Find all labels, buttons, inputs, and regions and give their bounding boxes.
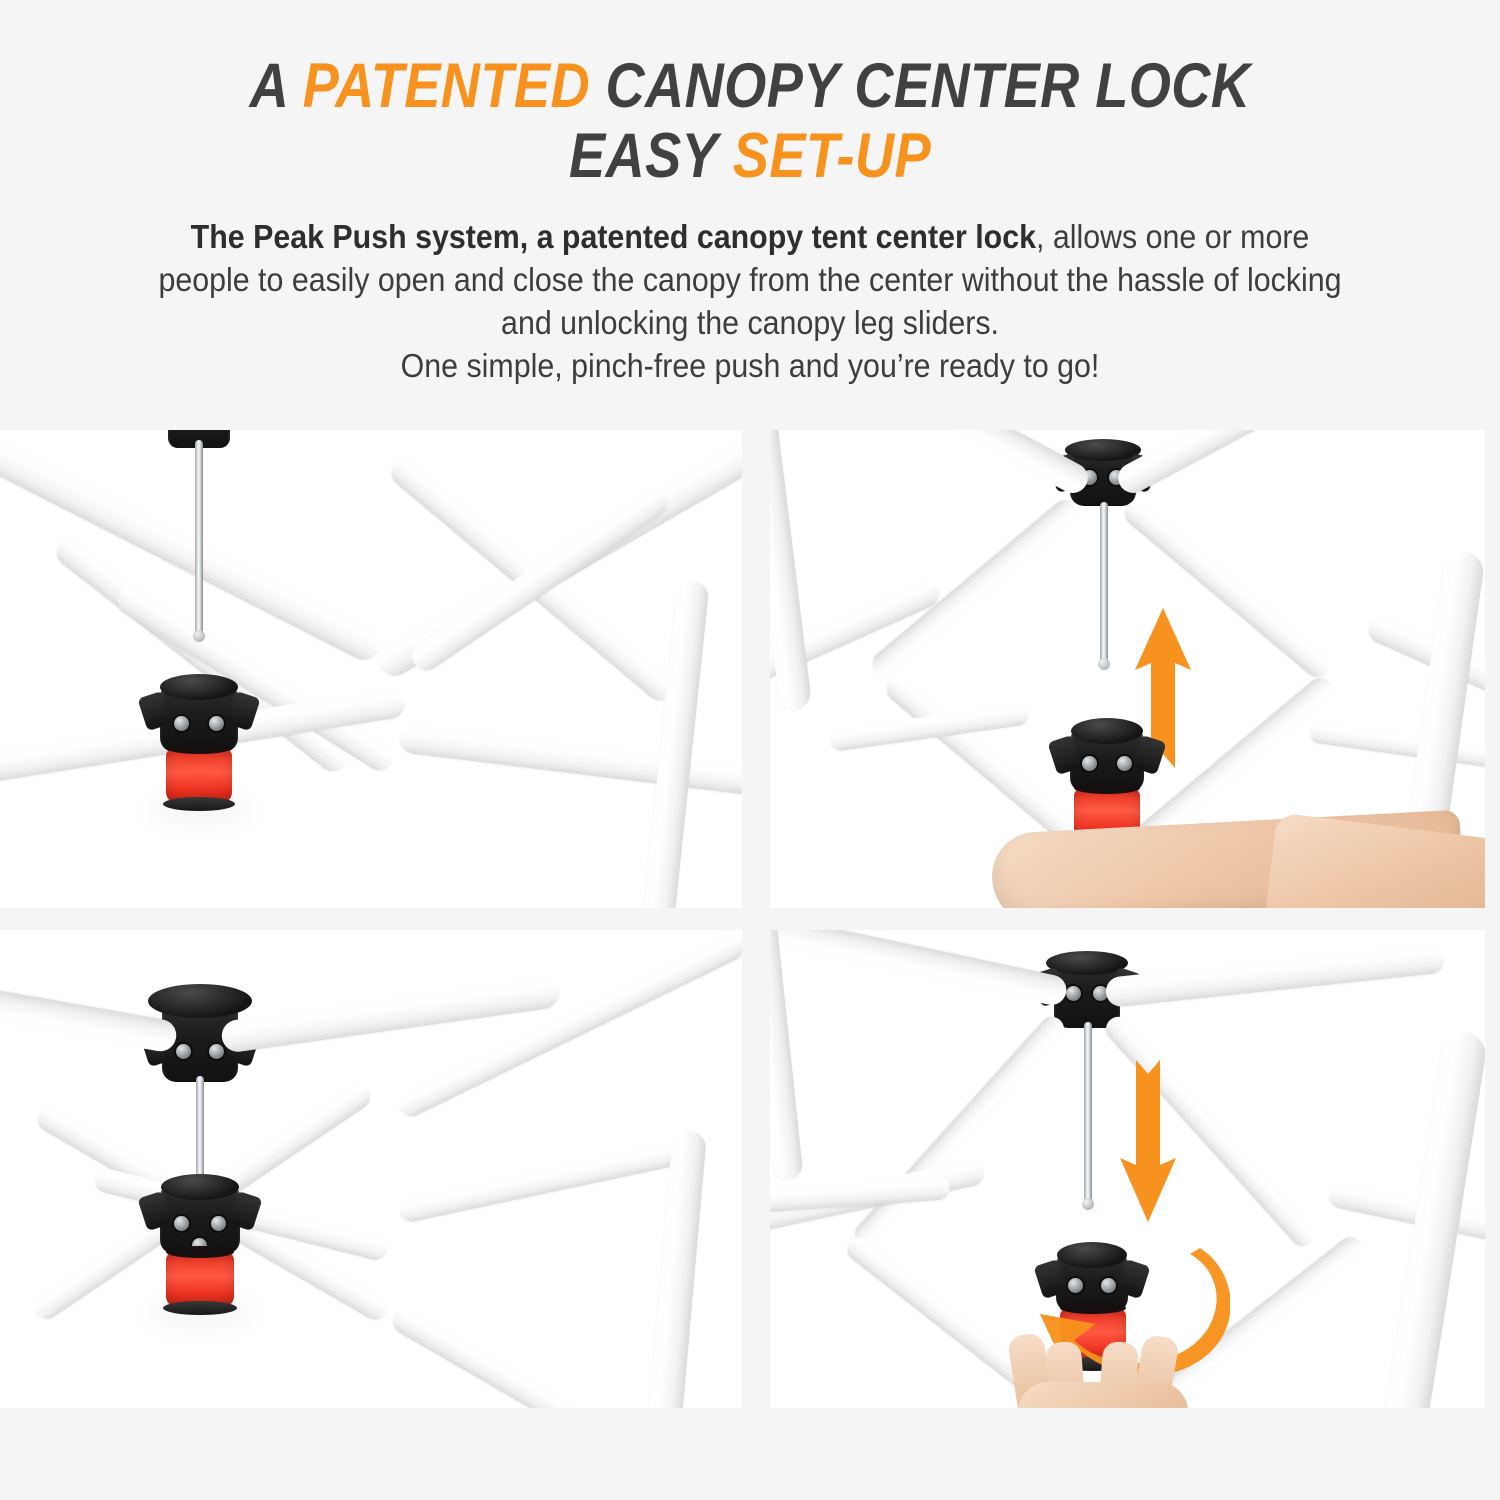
hub-ear-left	[137, 691, 172, 731]
title-word-patented: PATENTED	[303, 51, 590, 121]
description-line-2: One simple, pinch-free push and you’re r…	[401, 347, 1100, 384]
infographic-page: A PATENTED CANOPY CENTER LOCK EASY SET-U…	[0, 0, 1500, 1500]
panel-push-up-to-open-canopy	[770, 430, 1485, 908]
frame-rafter-upper-right	[1113, 430, 1418, 498]
frame-tube-leg-left	[770, 430, 812, 711]
hub-top-crown	[160, 674, 238, 700]
photo-grid	[0, 430, 1500, 1410]
hub-ear-left	[1047, 735, 1082, 775]
panel-canopy-fully-locked-center-hub	[0, 930, 742, 1408]
peak-bolt-left	[1066, 986, 1081, 1001]
title-line1-rest: CANOPY CENTER LOCK	[590, 51, 1250, 121]
description-paragraph: The Peak Push system, a patented canopy …	[143, 216, 1357, 388]
peak-cap-disc	[1065, 439, 1141, 461]
hub-bolt-left	[1082, 756, 1097, 771]
center-push-rod	[1084, 1022, 1092, 1204]
hub-bolt-right	[209, 716, 224, 731]
canopy-frame-illustration	[770, 430, 1485, 908]
hub-top-crown	[161, 1174, 239, 1200]
hub-bolt-left	[174, 1216, 189, 1231]
hub-ear-right	[1131, 735, 1166, 775]
frame-rafter-upper-left	[788, 430, 1093, 498]
frame-scissor-left-upper	[850, 1012, 1069, 1251]
title-word-setup: SET-UP	[733, 121, 931, 191]
center-push-rod	[1100, 502, 1108, 664]
page-title: A PATENTED CANOPY CENTER LOCK	[105, 52, 1395, 120]
peak-cap-disc	[148, 984, 252, 1018]
red-slider-drum	[166, 748, 232, 804]
canopy-frame-illustration	[770, 930, 1485, 1408]
hub-top-crown	[1071, 718, 1143, 744]
header: A PATENTED CANOPY CENTER LOCK EASY SET-U…	[0, 0, 1500, 388]
title-word-easy: EASY	[569, 121, 733, 191]
hub-bolt-left	[174, 716, 189, 731]
title-word-a: A	[250, 51, 303, 121]
hub-bolt-right	[1117, 756, 1132, 771]
canopy-frame-illustration	[0, 430, 742, 908]
center-push-rod	[195, 440, 203, 636]
panel-twist-and-pull-down-to-close-canopy	[770, 930, 1485, 1408]
red-slider-drum	[166, 1252, 234, 1308]
frame-rafter-upper-left	[770, 930, 1069, 1008]
panel-closed-canopy-center-lock-closeup	[0, 430, 742, 908]
peak-bolt-left	[176, 1044, 191, 1059]
center-lock-hub	[160, 1186, 240, 1254]
page-subtitle-title: EASY SET-UP	[105, 122, 1395, 190]
slider-drop-shadow	[150, 802, 250, 818]
frame-tube-leg-left	[770, 930, 804, 1181]
hand-palm-lower	[1018, 1382, 1188, 1408]
frame-rafter-upper-right	[1104, 943, 1445, 1008]
frame-tube-leg-right	[642, 579, 709, 908]
frame-rafter-upper-left	[0, 974, 179, 1054]
slider-drop-shadow	[150, 1306, 254, 1322]
frame-tube-leg-right	[647, 1129, 707, 1408]
canopy-frame-illustration	[0, 930, 742, 1408]
frame-scissor-x-right-down	[394, 931, 742, 1121]
arrow-down-icon	[1120, 1060, 1176, 1222]
description-bold-lead: The Peak Push system, a patented canopy …	[191, 218, 1036, 255]
frame-inner-arm-right	[398, 1138, 696, 1224]
peak-bolt-right	[209, 1044, 224, 1059]
hub-bolt-right	[211, 1216, 226, 1231]
